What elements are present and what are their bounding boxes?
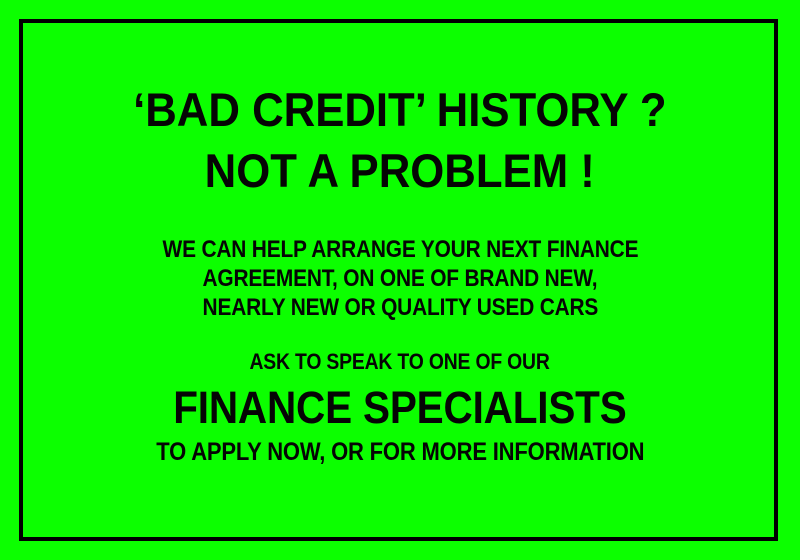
call-to-action-block: ASK TO SPEAK TO ONE OF OUR FINANCE SPECI… — [123, 351, 678, 465]
cta-lead-text: ASK TO SPEAK TO ONE OF OUR — [250, 351, 550, 373]
body-line-3: NEARLY NEW OR QUALITY USED CARS — [202, 296, 598, 320]
cta-headline-text: FINANCE SPECIALISTS — [173, 385, 626, 430]
body-line-2: AGREEMENT, ON ONE OF BRAND NEW, — [203, 267, 598, 291]
headline-line-2: NOT A PROBLEM ! — [205, 147, 595, 194]
headline-line-1: ‘BAD CREDIT’ HISTORY ? — [133, 86, 666, 133]
body-line-1: WE CAN HELP ARRANGE YOUR NEXT FINANCE — [162, 238, 638, 262]
cta-footer-text: TO APPLY NOW, OR FOR MORE INFORMATION — [156, 440, 644, 465]
advertisement-poster: ‘BAD CREDIT’ HISTORY ? NOT A PROBLEM ! W… — [0, 0, 800, 560]
poster-content: ‘BAD CREDIT’ HISTORY ? NOT A PROBLEM ! W… — [0, 0, 800, 560]
body-text-block: WE CAN HELP ARRANGE YOUR NEXT FINANCE AG… — [127, 238, 674, 325]
headline-block: ‘BAD CREDIT’ HISTORY ? NOT A PROBLEM ! — [113, 86, 687, 194]
